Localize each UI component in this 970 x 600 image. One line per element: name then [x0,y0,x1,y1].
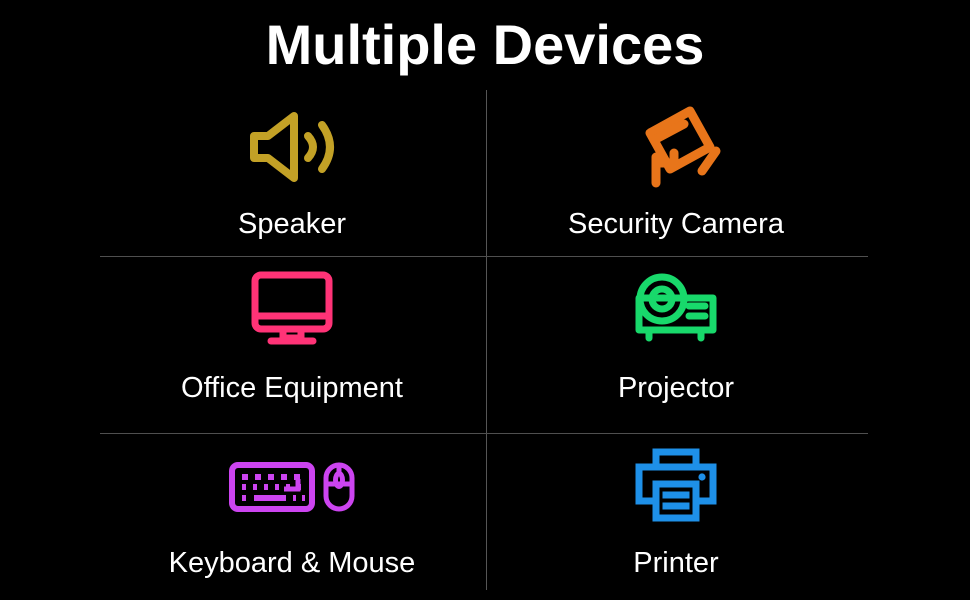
device-grid: Speaker [100,90,868,590]
device-label: Speaker [238,206,346,242]
device-cell-office-equipment[interactable]: Office Equipment [100,256,484,433]
device-label: Projector [618,370,734,406]
device-overview-slide: Multiple Devices Speaker [0,0,970,600]
keyboard-mouse-icon [228,447,356,527]
device-label: Office Equipment [181,370,403,406]
device-label: Keyboard & Mouse [169,545,416,581]
speaker-icon [246,104,338,190]
page-title: Multiple Devices [0,8,970,82]
device-cell-projector[interactable]: Projector [484,256,868,433]
device-cell-security-camera[interactable]: Security Camera [484,90,868,256]
monitor-icon [249,264,335,352]
security-camera-icon [628,104,724,190]
projector-icon [629,264,723,352]
device-cell-keyboard-mouse[interactable]: Keyboard & Mouse [100,433,484,590]
printer-icon [632,447,720,527]
device-label: Security Camera [568,206,784,242]
device-label: Printer [633,545,718,581]
device-cell-speaker[interactable]: Speaker [100,90,484,256]
device-cell-printer[interactable]: Printer [484,433,868,590]
